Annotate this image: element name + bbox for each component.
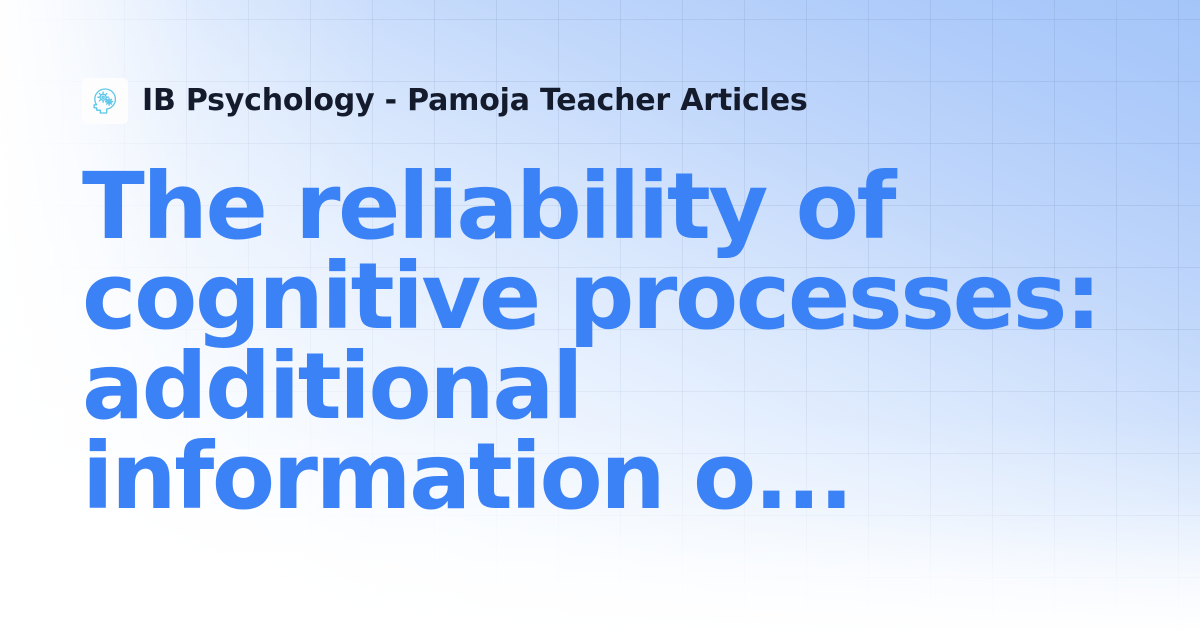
- og-preview-card: IB Psychology - Pamoja Teacher Articles …: [0, 0, 1200, 630]
- headline-line-4: information o...: [82, 432, 1042, 522]
- site-logo-tile: [82, 78, 128, 124]
- headline-line-3: additional: [82, 342, 1042, 432]
- card-content: IB Psychology - Pamoja Teacher Articles …: [0, 0, 1200, 630]
- site-title: IB Psychology - Pamoja Teacher Articles: [142, 86, 808, 116]
- site-header: IB Psychology - Pamoja Teacher Articles: [82, 78, 808, 124]
- article-headline: The reliability of cognitive processes: …: [82, 162, 1042, 523]
- headline-line-2: cognitive processes:: [82, 252, 1042, 342]
- head-with-gears-icon: [89, 85, 121, 117]
- headline-line-1: The reliability of: [82, 162, 1042, 252]
